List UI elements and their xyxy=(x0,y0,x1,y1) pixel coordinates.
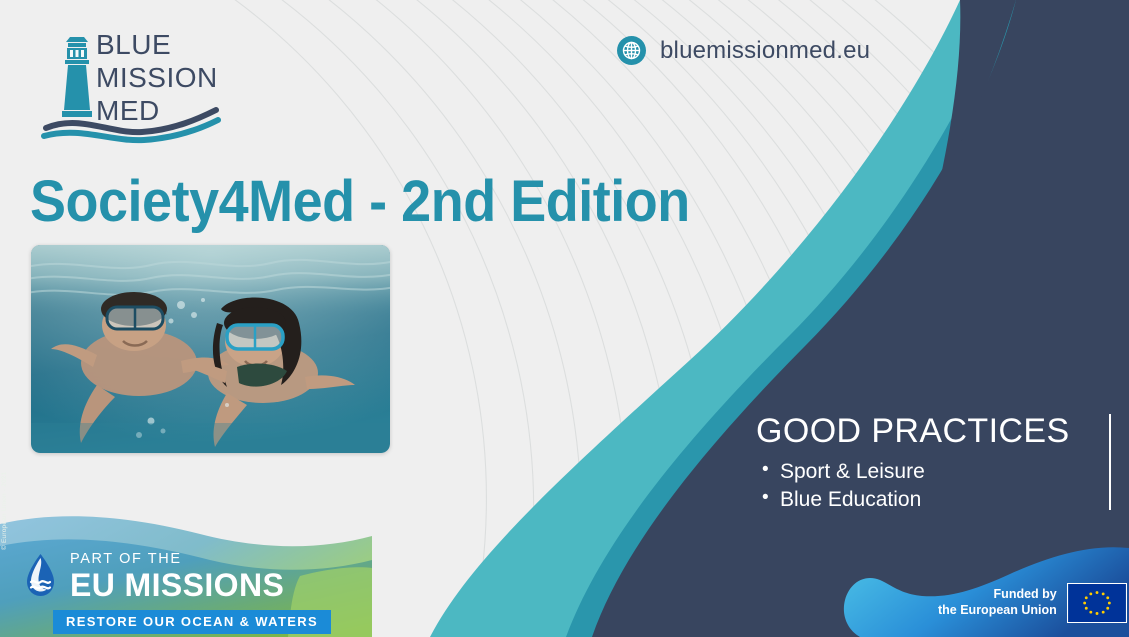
logo[interactable]: BLUE MISSION MED xyxy=(32,22,227,144)
globe-icon xyxy=(617,36,646,65)
logo-line-2: MISSION xyxy=(96,62,218,93)
funded-line-2: the European Union xyxy=(938,603,1057,619)
eu-missions-credit: © European Union - 2021 xyxy=(1,472,8,550)
funded-line-1: Funded by xyxy=(938,587,1057,603)
website-url: bluemissionmed.eu xyxy=(660,37,870,65)
funded-by-text: Funded by the European Union xyxy=(938,587,1057,618)
water-drop-icon xyxy=(22,554,59,600)
list-item: Sport & Leisure xyxy=(762,458,1101,486)
website-link[interactable]: bluemissionmed.eu xyxy=(617,36,870,65)
eu-missions-content: PART OF THE EU MISSIONS xyxy=(22,552,284,601)
presentation-slide: BLUE MISSION MED bluemissionmed.eu Socie… xyxy=(0,0,1129,637)
logo-line-3: MED xyxy=(96,95,160,126)
good-practices-block: GOOD PRACTICES Sport & Leisure Blue Educ… xyxy=(756,414,1101,514)
list-item: Blue Education xyxy=(762,486,1101,514)
eu-missions-title: EU MISSIONS xyxy=(70,569,284,601)
good-practices-list: Sport & Leisure Blue Education xyxy=(756,458,1101,514)
eu-missions-badge: PART OF THE EU MISSIONS RESTORE OUR OCEA… xyxy=(0,506,372,637)
snorkelling-photo xyxy=(31,245,390,453)
page-title: Society4Med - 2nd Edition xyxy=(30,172,690,233)
lighthouse-icon xyxy=(62,37,92,117)
eu-missions-ribbon: RESTORE OUR OCEAN & WATERS xyxy=(53,610,331,634)
good-practices-heading: GOOD PRACTICES xyxy=(756,414,1101,450)
eu-flag-icon xyxy=(1067,583,1127,623)
vertical-divider xyxy=(1109,414,1111,510)
navy-field xyxy=(592,0,1129,637)
eu-missions-part-of-the: PART OF THE xyxy=(70,552,284,567)
funded-by-block: Funded by the European Union xyxy=(938,583,1127,623)
logo-line-1: BLUE xyxy=(96,29,171,60)
